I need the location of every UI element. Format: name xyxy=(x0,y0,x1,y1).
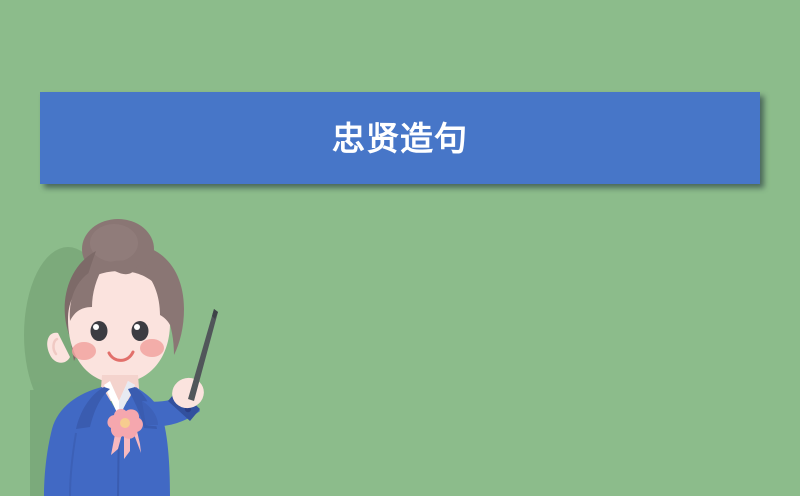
slide-canvas: 忠贤造句 xyxy=(0,0,800,496)
right-eye xyxy=(132,321,149,341)
left-blush xyxy=(72,342,96,360)
right-blush xyxy=(140,339,164,357)
page-title: 忠贤造句 xyxy=(332,122,468,155)
badge-center xyxy=(120,418,130,428)
teacher-illustration xyxy=(18,215,238,496)
title-banner: 忠贤造句 xyxy=(40,92,760,184)
left-eye xyxy=(91,321,108,341)
hair-bun-highlight xyxy=(90,224,138,262)
pointer-stick xyxy=(188,309,218,401)
